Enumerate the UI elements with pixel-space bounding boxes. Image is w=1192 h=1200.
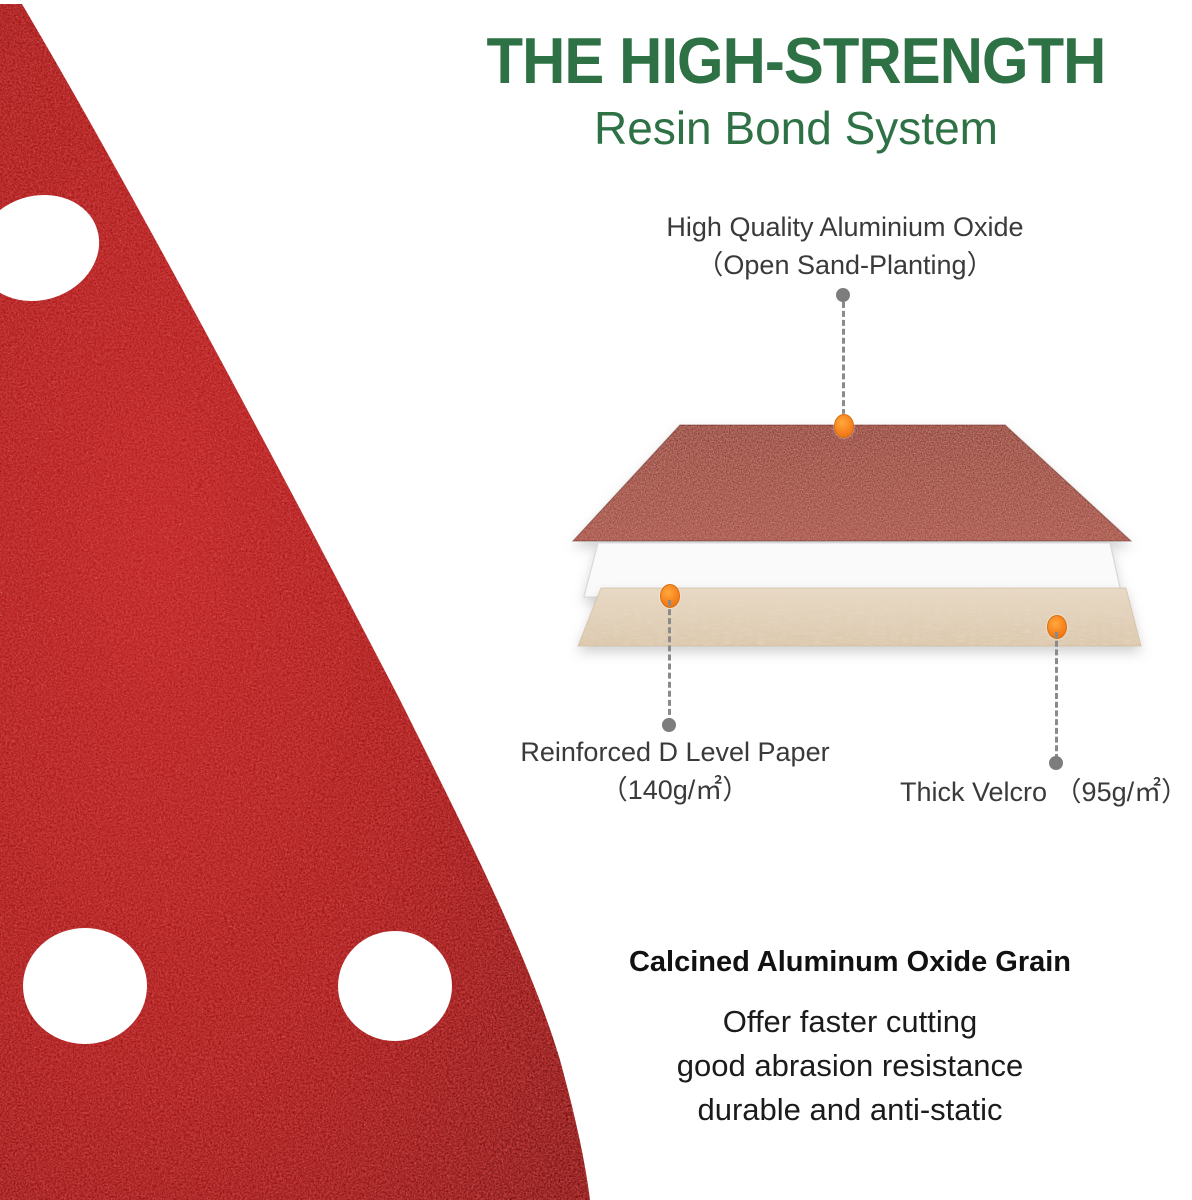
leader-dot-abrasive — [836, 288, 850, 302]
callout-velcro: Thick Velcro （95g/㎡） — [830, 773, 1192, 811]
leader-line-velcro — [1055, 632, 1058, 760]
infographic-page: THE HIGH-STRENGTH Resin Bond System — [0, 0, 1192, 1200]
marker-abrasive — [834, 414, 854, 438]
page-title: THE HIGH-STRENGTH — [432, 26, 1161, 96]
callout-abrasive: High Quality Aluminium Oxide （Open Sand-… — [565, 208, 1125, 284]
description-title: Calcined Aluminum Oxide Grain — [530, 946, 1170, 979]
page-subtitle: Resin Bond System — [400, 100, 1192, 156]
description-line-1: Offer faster cutting — [530, 1000, 1170, 1044]
description-body: Offer faster cutting good abrasion resis… — [530, 1000, 1170, 1132]
sanding-disc-image — [0, 0, 620, 1200]
callout-abrasive-line2: （Open Sand-Planting） — [565, 246, 1125, 284]
abrasive-grain-layer — [560, 415, 1150, 555]
callout-paper-line1: Reinforced D Level Paper — [440, 733, 910, 771]
callout-abrasive-line1: High Quality Aluminium Oxide — [565, 208, 1125, 246]
leader-line-abrasive — [842, 302, 845, 424]
callout-velcro-line1: Thick Velcro （95g/㎡） — [900, 773, 1192, 811]
leader-dot-paper — [662, 718, 676, 732]
leader-dot-velcro — [1049, 756, 1063, 770]
description-line-2: good abrasion resistance — [530, 1044, 1170, 1088]
leader-line-paper — [668, 600, 671, 724]
description-line-3: durable and anti-static — [530, 1088, 1170, 1132]
